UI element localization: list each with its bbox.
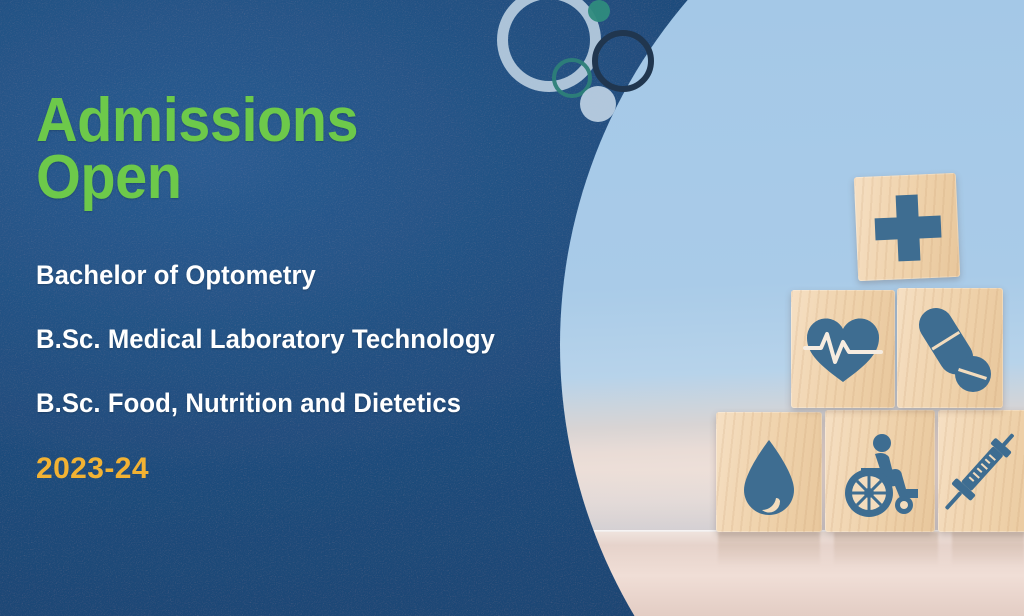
- page-title: Admissions Open: [36, 92, 538, 206]
- course-item: B.Sc. Food, Nutrition and Dietetics: [36, 388, 549, 419]
- decor-light-blue-dot: [580, 86, 616, 122]
- decor-small-teal-dot: [588, 0, 610, 22]
- headline-line-2: Open: [36, 149, 538, 206]
- decor-dark-navy-ring: [592, 30, 654, 92]
- admissions-banner: Admissions Open Bachelor of Optometry B.…: [0, 0, 1024, 616]
- headline-line-1: Admissions: [36, 92, 538, 149]
- banner-copy: Admissions Open Bachelor of Optometry B.…: [36, 92, 576, 486]
- course-list: Bachelor of Optometry B.Sc. Medical Labo…: [36, 260, 576, 419]
- course-item: Bachelor of Optometry: [36, 260, 549, 291]
- course-item: B.Sc. Medical Laboratory Technology: [36, 324, 549, 355]
- academic-year: 2023-24: [36, 452, 576, 486]
